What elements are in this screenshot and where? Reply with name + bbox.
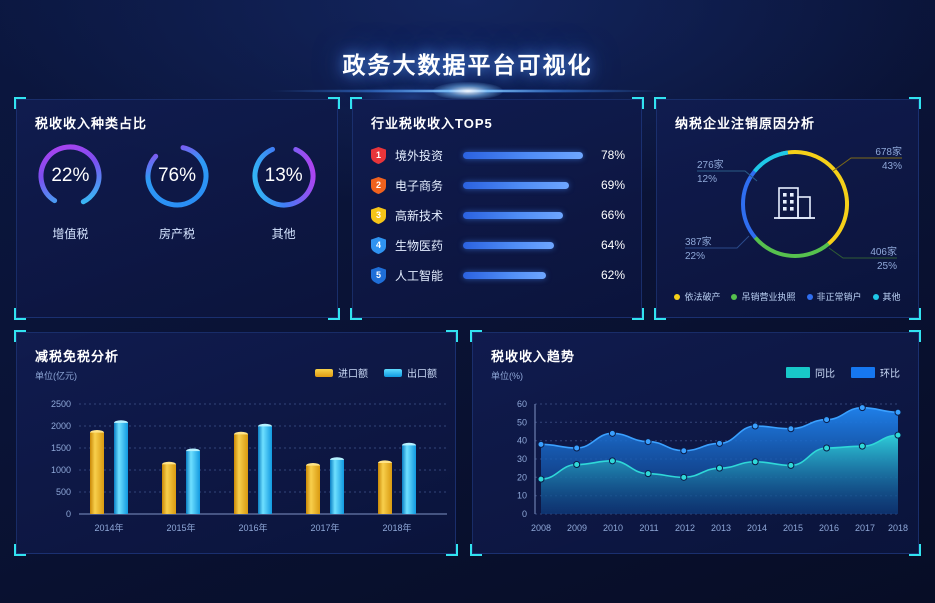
legend-label: 进口额 <box>338 365 368 380</box>
cancel-donut-chart: 678家 43% 276家 12% 387家 22% 406家 25% <box>657 130 918 280</box>
gauge-item[interactable]: 22% 增值税 <box>17 140 124 242</box>
gauge-ring-1: 76% <box>141 140 213 212</box>
list-item[interactable]: 2 电子商务 69% <box>371 170 625 200</box>
gauge-label: 增值税 <box>52 225 88 242</box>
svg-text:2012: 2012 <box>675 523 695 533</box>
gauge-ring-2: 13% <box>248 140 320 212</box>
gauge-label: 其他 <box>272 225 296 242</box>
gauge-item[interactable]: 76% 房产税 <box>124 140 231 242</box>
panel-title-tax-type: 税收收入种类占比 <box>35 113 147 132</box>
list-item[interactable]: 3 高新技术 66% <box>371 200 625 230</box>
svg-text:60: 60 <box>517 399 527 409</box>
corner-bracket-icon <box>654 308 666 320</box>
industry-pct: 66% <box>591 208 625 222</box>
rank-badge-icon: 2 <box>371 177 386 194</box>
svg-text:500: 500 <box>56 487 71 497</box>
axis-unit-label: 单位(%) <box>491 369 523 382</box>
svg-text:2500: 2500 <box>51 399 71 409</box>
corner-bracket-icon <box>632 97 644 109</box>
svg-text:2014: 2014 <box>747 523 767 533</box>
svg-text:10: 10 <box>517 491 527 501</box>
svg-text:2009: 2009 <box>567 523 587 533</box>
svg-text:2016: 2016 <box>819 523 839 533</box>
corner-bracket-icon <box>328 97 340 109</box>
slice-count-license: 406家 <box>870 245 897 258</box>
slice-pct-bankruptcy: 43% <box>882 161 902 172</box>
legend-swatch-icon <box>851 367 875 378</box>
svg-text:50: 50 <box>517 417 527 427</box>
page-header: 政务大数据平台可视化 <box>0 0 935 92</box>
bar-track <box>463 152 583 159</box>
y-axis-ticks: 60 50 40 30 20 10 0 <box>517 399 527 519</box>
rank-badge-icon: 3 <box>371 207 386 224</box>
industry-name: 境外投资 <box>395 147 455 164</box>
svg-text:2013: 2013 <box>711 523 731 533</box>
gauge-item[interactable]: 13% 其他 <box>230 140 337 242</box>
panel-tax-reduction: 减税免税分析 单位(亿元) 进口额 出口额 <box>16 332 456 554</box>
panel-cancel-reason: 纳税企业注销原因分析 <box>656 99 919 318</box>
rank-badge-icon: 5 <box>371 267 386 284</box>
building-icon <box>774 188 815 218</box>
legend-swatch-icon <box>315 369 333 377</box>
legend-item[interactable]: 吊销营业执照 <box>731 290 795 303</box>
legend-label: 其他 <box>883 290 901 303</box>
svg-text:1500: 1500 <box>51 443 71 453</box>
panel-title-trend: 税收收入趋势 <box>491 346 575 365</box>
slice-count-abnormal: 387家 <box>685 235 712 248</box>
legend-item[interactable]: 出口额 <box>384 365 437 380</box>
legend-label: 吊销营业执照 <box>741 290 795 303</box>
slice-count-bankruptcy: 678家 <box>875 145 902 158</box>
slice-pct-abnormal: 22% <box>685 251 705 262</box>
rank-number: 2 <box>371 177 386 194</box>
corner-bracket-icon <box>909 97 921 109</box>
legend-label: 同比 <box>815 365 835 380</box>
rank-badge-icon: 4 <box>371 237 386 254</box>
legend-dot-icon <box>731 294 737 300</box>
legend-swatch-icon <box>786 367 810 378</box>
bar-group-2015 <box>162 449 200 515</box>
rank-number: 3 <box>371 207 386 224</box>
corner-bracket-icon <box>446 330 458 342</box>
bar-track <box>463 272 583 279</box>
gauge-value: 22% <box>34 140 106 212</box>
svg-text:2011: 2011 <box>639 523 658 533</box>
industry-pct: 78% <box>591 148 625 162</box>
svg-text:2014年: 2014年 <box>94 522 123 533</box>
list-item[interactable]: 1 境外投资 78% <box>371 140 625 170</box>
top5-list: 1 境外投资 78% 2 电子商务 69% 3 高新技术 66% <box>371 140 625 290</box>
corner-bracket-icon <box>909 308 921 320</box>
bar-track <box>463 212 583 219</box>
area-chart-svg: 60 50 40 30 20 10 0 2008 2009 2010 2011 … <box>473 389 920 549</box>
svg-text:20: 20 <box>517 472 527 482</box>
legend-item[interactable]: 同比 <box>786 365 835 380</box>
list-item[interactable]: 5 人工智能 62% <box>371 260 625 290</box>
corner-bracket-icon <box>14 97 26 109</box>
axis-unit-label: 单位(亿元) <box>35 369 77 382</box>
bar-chart-svg: 2500 2000 1500 1000 500 0 <box>17 389 457 549</box>
bar-group-2014 <box>90 420 128 514</box>
legend-label: 出口额 <box>407 365 437 380</box>
bar-track <box>463 182 583 189</box>
legend-dot-icon <box>873 294 879 300</box>
corner-bracket-icon <box>470 330 482 342</box>
legend-dot-icon <box>807 294 813 300</box>
gauge-ring-0: 22% <box>34 140 106 212</box>
svg-text:40: 40 <box>517 436 527 446</box>
rank-number: 5 <box>371 267 386 284</box>
bar-track <box>463 242 583 249</box>
bar-chart-legend: 进口额 出口额 <box>315 365 437 380</box>
svg-text:2000: 2000 <box>51 421 71 431</box>
legend-swatch-icon <box>384 369 402 377</box>
slice-pct-other: 12% <box>697 174 717 185</box>
svg-text:2008: 2008 <box>531 523 551 533</box>
list-item[interactable]: 4 生物医药 64% <box>371 230 625 260</box>
area-chart-legend: 同比 环比 <box>786 365 900 380</box>
corner-bracket-icon <box>350 308 362 320</box>
gauge-label: 房产税 <box>159 225 195 242</box>
corner-bracket-icon <box>14 330 26 342</box>
legend-item[interactable]: 其他 <box>873 290 901 303</box>
gauge-group: 22% 增值税 76% 房产税 <box>17 140 337 242</box>
corner-bracket-icon <box>909 330 921 342</box>
svg-text:0: 0 <box>522 509 527 519</box>
corner-bracket-icon <box>328 308 340 320</box>
bar-fill <box>463 272 546 279</box>
rank-number: 1 <box>371 147 386 164</box>
corner-bracket-icon <box>632 308 644 320</box>
legend-item[interactable]: 进口额 <box>315 365 368 380</box>
bar-group-2017 <box>306 457 344 514</box>
svg-text:2015: 2015 <box>783 523 803 533</box>
header-flare-core <box>433 82 503 100</box>
corner-bracket-icon <box>654 97 666 109</box>
bar-fill <box>463 152 583 159</box>
bar-group-2016 <box>234 424 272 514</box>
svg-text:2018: 2018 <box>888 523 908 533</box>
x-axis-ticks: 2008 2009 2010 2011 2012 2013 2014 2015 … <box>531 523 908 533</box>
svg-text:2017年: 2017年 <box>310 522 339 533</box>
rank-number: 4 <box>371 237 386 254</box>
slice-count-other: 276家 <box>697 158 724 171</box>
panel-title-reduction: 减税免税分析 <box>35 346 119 365</box>
svg-text:30: 30 <box>517 454 527 464</box>
svg-text:2018年: 2018年 <box>382 522 411 533</box>
panel-title-top5: 行业税收收入TOP5 <box>371 113 493 132</box>
industry-name: 生物医药 <box>395 237 455 254</box>
legend-item[interactable]: 非正常销户 <box>807 290 862 303</box>
industry-pct: 64% <box>591 238 625 252</box>
panel-industry-top5: 行业税收收入TOP5 1 境外投资 78% 2 电子商务 69% 3 <box>352 99 642 318</box>
legend-label: 依法破产 <box>684 290 720 303</box>
x-axis-ticks: 2014年 2015年 2016年 2017年 2018年 <box>94 522 411 533</box>
svg-text:0: 0 <box>66 509 71 519</box>
page-title: 政务大数据平台可视化 <box>0 46 935 80</box>
corner-bracket-icon <box>14 308 26 320</box>
cancel-donut-legend: 依法破产 吊销营业执照 非正常销户 其他 <box>657 290 918 303</box>
svg-text:2010: 2010 <box>603 523 623 533</box>
legend-label: 环比 <box>880 365 900 380</box>
svg-text:2016年: 2016年 <box>238 522 267 533</box>
legend-item[interactable]: 依法破产 <box>674 290 720 303</box>
svg-text:2015年: 2015年 <box>166 522 195 533</box>
slice-pct-license: 25% <box>877 261 897 272</box>
donut-slice-bankruptcy <box>731 140 858 267</box>
industry-name: 高新技术 <box>395 207 455 224</box>
panel-tax-type-share: 税收收入种类占比 22% 增值税 <box>16 99 338 318</box>
rank-badge-icon: 1 <box>371 147 386 164</box>
bar-fill <box>463 182 569 189</box>
panel-tax-trend: 税收收入趋势 单位(%) 同比 环比 <box>472 332 919 554</box>
bar-fill <box>463 212 563 219</box>
gauge-value: 13% <box>248 140 320 212</box>
y-axis-ticks: 2500 2000 1500 1000 500 0 <box>51 399 71 519</box>
bar-fill <box>463 242 554 249</box>
svg-text:2017: 2017 <box>855 523 875 533</box>
bar-group-2018 <box>378 443 416 514</box>
legend-dot-icon <box>674 294 680 300</box>
gauge-value: 76% <box>141 140 213 212</box>
industry-pct: 69% <box>591 178 625 192</box>
industry-pct: 62% <box>591 268 625 282</box>
legend-item[interactable]: 环比 <box>851 365 900 380</box>
industry-name: 电子商务 <box>395 177 455 194</box>
svg-text:1000: 1000 <box>51 465 71 475</box>
corner-bracket-icon <box>350 97 362 109</box>
industry-name: 人工智能 <box>395 267 455 284</box>
legend-label: 非正常销户 <box>817 290 862 303</box>
